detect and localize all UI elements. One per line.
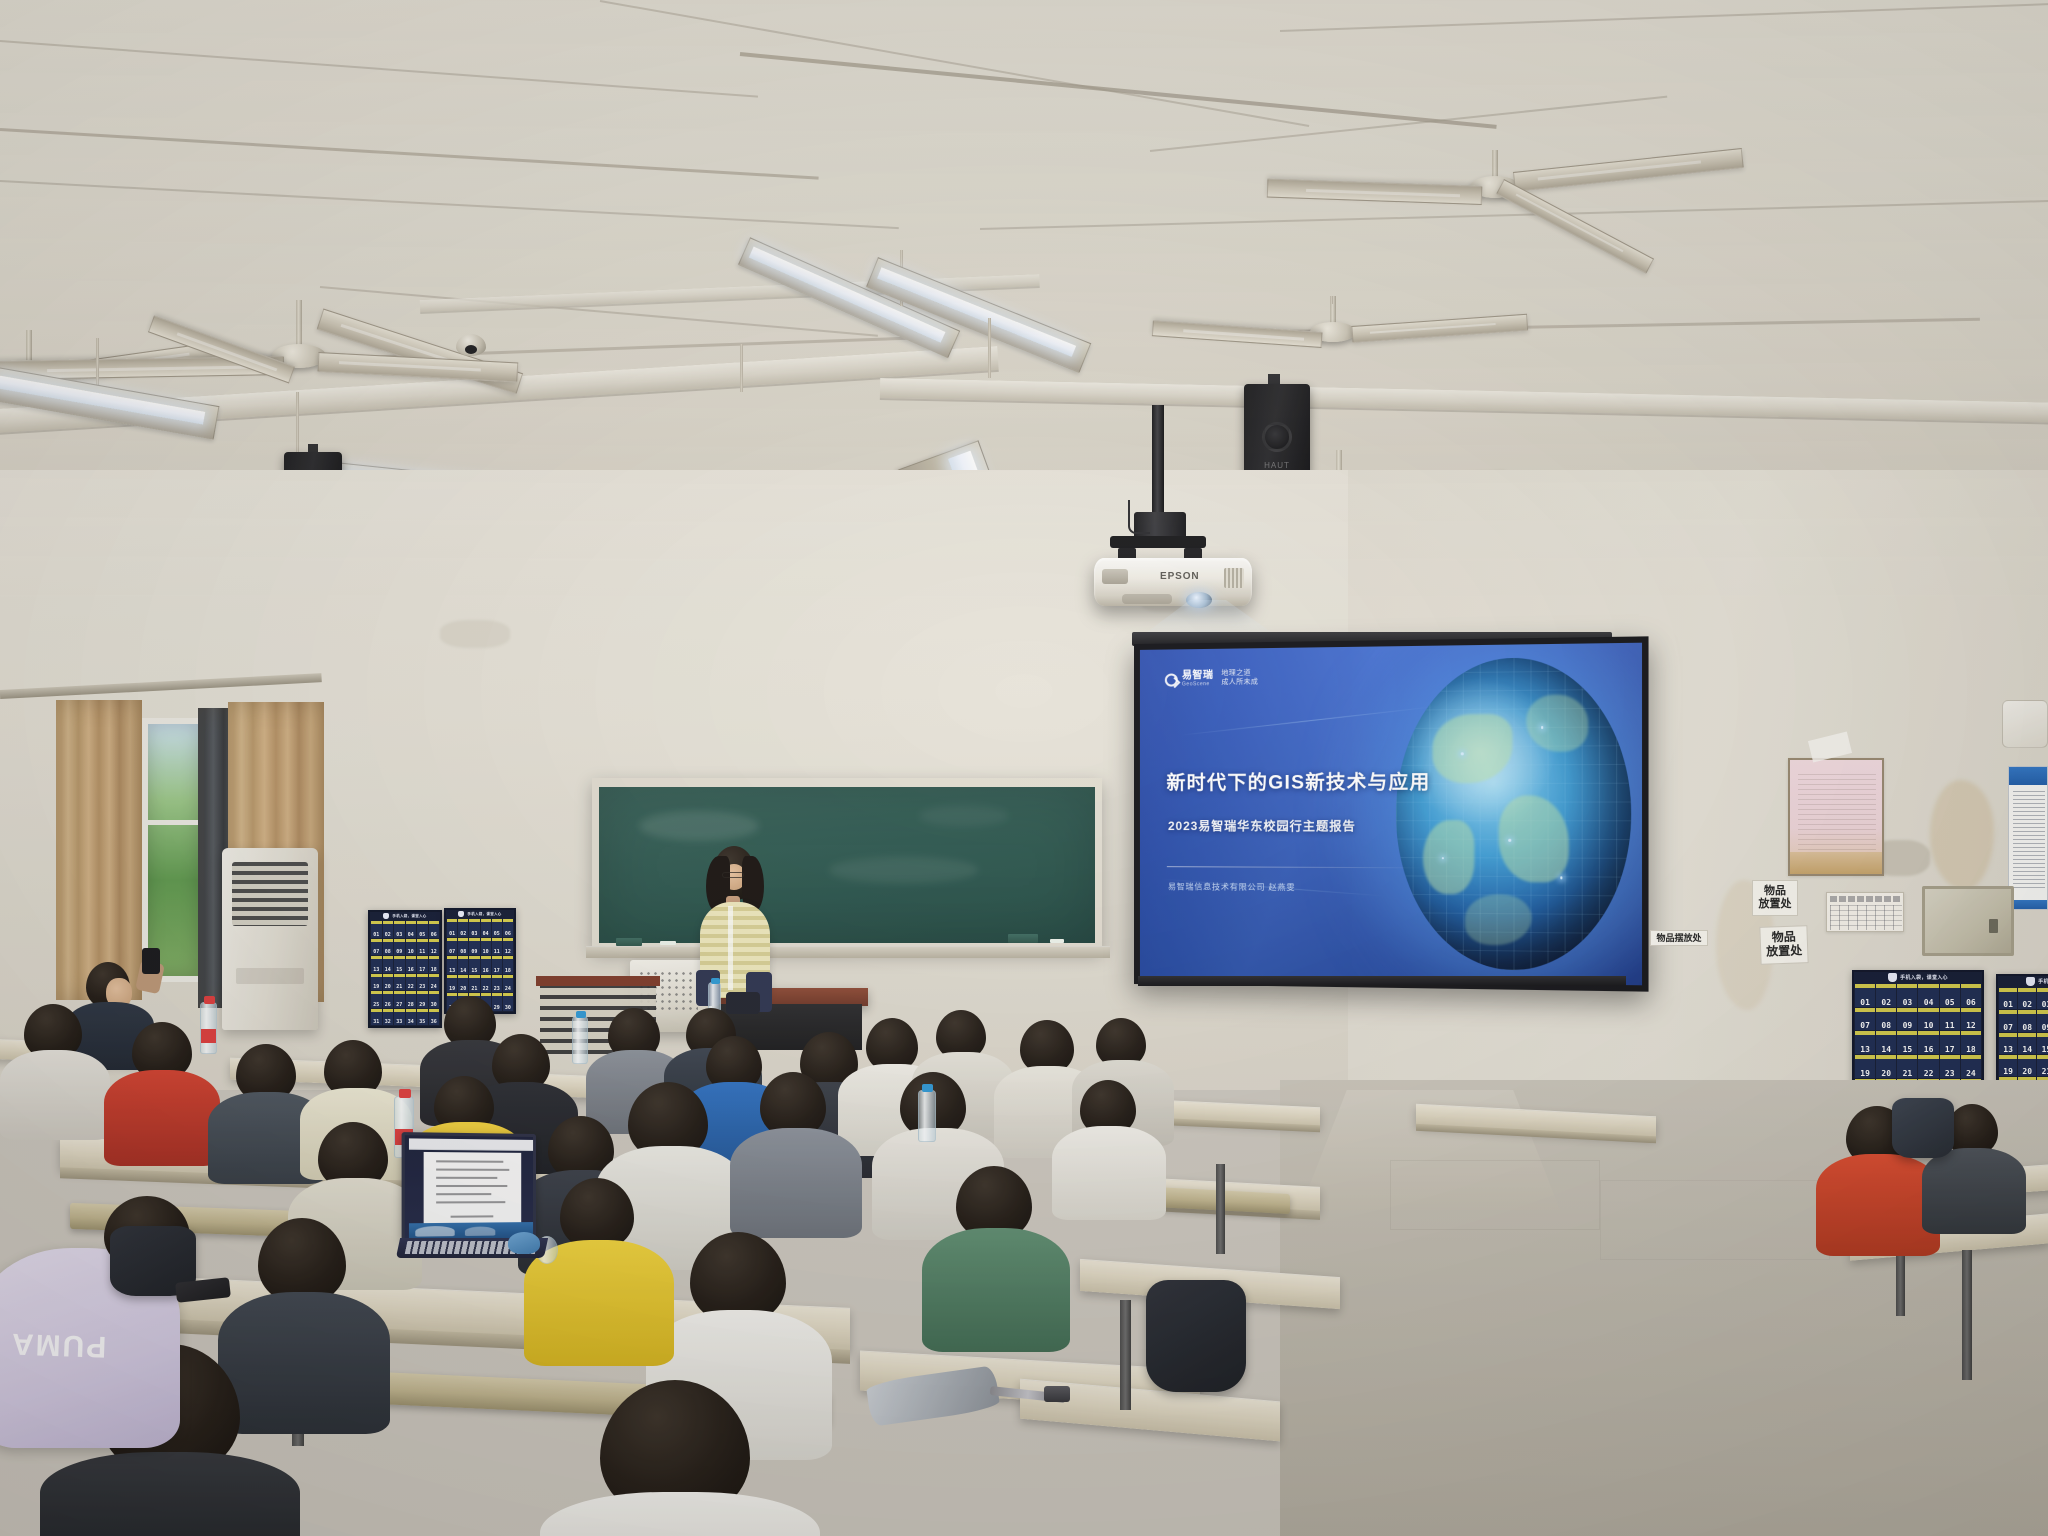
blackboard-eraser: [1008, 934, 1038, 943]
pocket-slot[interactable]: 22: [1918, 1055, 1938, 1078]
presenter-glasses: [722, 872, 744, 878]
pocket-slot[interactable]: 13: [447, 956, 457, 974]
pocket-slot[interactable]: 01: [1855, 984, 1875, 1007]
pocket-slot[interactable]: 08: [458, 938, 468, 956]
slide-presenter-line: 易智瑞信息技术有限公司 赵燕雯: [1168, 881, 1295, 893]
slide-logo-tagline-2: 成人所未成: [1221, 679, 1258, 688]
pocket-slot[interactable]: 04: [481, 919, 491, 937]
pocket-slot[interactable]: 14: [458, 956, 468, 974]
pocket-slot[interactable]: 27: [394, 991, 405, 1008]
pocket-slot[interactable]: 13: [371, 956, 382, 973]
water-bottle: [918, 1090, 936, 1142]
pocket-slot[interactable]: 08: [383, 939, 394, 956]
pocket-slot[interactable]: 16: [1918, 1031, 1938, 1054]
pocket-slot[interactable]: 02: [2018, 988, 2036, 1009]
laptop-screen: [402, 1132, 536, 1240]
pocket-slot[interactable]: 02: [458, 919, 468, 937]
wall-access-door: [1922, 886, 2014, 956]
computer-mouse: [508, 1232, 540, 1254]
pocket-slot[interactable]: 02: [383, 921, 394, 938]
screen-bottom-bar: [1138, 976, 1626, 986]
pocket-slot[interactable]: 10: [406, 939, 417, 956]
person-body: [104, 1070, 220, 1166]
backpack: [1892, 1098, 1954, 1158]
pocket-slot[interactable]: 24: [503, 975, 513, 993]
dome-camera-icon: [456, 334, 486, 356]
pocket-slot[interactable]: 10: [1918, 1008, 1938, 1031]
globe-graphic: [1396, 657, 1632, 972]
pocket-slot[interactable]: 19: [371, 974, 382, 991]
pocket-slot[interactable]: 07: [1999, 1010, 2017, 1031]
pocket-slot[interactable]: 03: [2037, 988, 2048, 1009]
bottle-cap: [922, 1084, 933, 1092]
pocket-slot[interactable]: 08: [2018, 1010, 2036, 1031]
wall-notice-pink: [1788, 758, 1884, 876]
pocket-board-title: 手机入袋，课堂入心: [392, 914, 426, 919]
pocket-slot[interactable]: 34: [406, 1009, 417, 1026]
wall-poster-blue: [2008, 766, 2048, 910]
pocket-slot[interactable]: 33: [394, 1009, 405, 1026]
presentation-slide: 易智瑞 GeoScene 地理之道 成人所未成 新时代下的GIS新技术与应用 2…: [1140, 643, 1642, 986]
pocket-slot[interactable]: 25: [371, 991, 382, 1008]
wall-panel-box: [2002, 700, 2048, 748]
pocket-slot[interactable]: 09: [469, 938, 479, 956]
shield-icon: [458, 911, 464, 917]
pocket-slot[interactable]: 21: [394, 974, 405, 991]
pocket-board-header: 手机入袋，课堂入心: [1854, 972, 1982, 983]
pocket-slot[interactable]: 04: [1918, 984, 1938, 1007]
projector: EPSON: [1094, 558, 1252, 606]
pocket-slot[interactable]: 21: [2037, 1055, 2048, 1076]
window: [142, 718, 204, 982]
light-hanger: [740, 344, 743, 392]
wall-stain: [1930, 780, 1994, 890]
pocket-slot[interactable]: 03: [469, 919, 479, 937]
pocket-slot[interactable]: 15: [394, 956, 405, 973]
pocket-slot[interactable]: 24: [1961, 1055, 1981, 1078]
pocket-slot[interactable]: 19: [1855, 1055, 1875, 1078]
water-bottle: [200, 1002, 217, 1054]
pocket-slot[interactable]: 35: [417, 1009, 428, 1026]
pocket-slot[interactable]: 17: [492, 956, 502, 974]
slide-title: 新时代下的GIS新技术与应用: [1166, 767, 1430, 795]
pocket-slot[interactable]: 19: [1999, 1055, 2017, 1076]
pocket-slot[interactable]: 15: [1897, 1031, 1917, 1054]
pocket-board-header: 手机入袋，课堂入心: [370, 912, 440, 920]
pocket-slot[interactable]: 01: [1999, 988, 2017, 1009]
bottle-cap: [576, 1011, 586, 1018]
pocket-slot[interactable]: 11: [417, 939, 428, 956]
sign-text: 物品 放置处: [1759, 885, 1792, 910]
curtain-left: [56, 700, 142, 1000]
pocket-slot[interactable]: 03: [1897, 984, 1917, 1007]
desk-leg: [1962, 1250, 1972, 1380]
pocket-slot[interactable]: 11: [492, 938, 502, 956]
slide-logo: 易智瑞 GeoScene 地理之道 成人所未成: [1165, 670, 1258, 689]
pocket-slot[interactable]: 13: [1855, 1031, 1875, 1054]
projector-cable: [1128, 500, 1150, 534]
bottle-cap: [399, 1089, 411, 1098]
pocket-slot[interactable]: 24: [429, 974, 440, 991]
pocket-slot[interactable]: 20: [458, 975, 468, 993]
wall-sign-item-place: 物品摆放处: [1650, 930, 1708, 946]
smartphone: [142, 948, 160, 974]
projector-mount-arm: [1110, 536, 1206, 548]
pocket-slot[interactable]: 15: [2037, 1033, 2048, 1054]
phone-pocket-board: 手机入袋，课堂入心 010203040506070809101112131415…: [368, 910, 442, 1028]
window-mullion: [142, 820, 204, 825]
wall-speaker: HAUT: [1244, 384, 1310, 476]
person-body: [540, 1492, 820, 1536]
pocket-slot[interactable]: 06: [1961, 984, 1981, 1007]
shield-icon: [1888, 973, 1897, 982]
blackboard: [592, 778, 1102, 950]
pocket-slot[interactable]: 21: [469, 975, 479, 993]
pocket-slot[interactable]: 16: [406, 956, 417, 973]
pocket-slot[interactable]: 08: [1876, 1008, 1896, 1031]
bottle-cap: [711, 978, 720, 984]
pocket-slot[interactable]: 18: [1961, 1031, 1981, 1054]
shield-icon: [383, 913, 389, 919]
slide-subtitle: 2023易智瑞华东校园行主题报告: [1168, 817, 1356, 834]
pocket-slot[interactable]: 09: [2037, 1010, 2048, 1031]
pocket-slot[interactable]: 03: [394, 921, 405, 938]
light-hanger: [988, 318, 991, 378]
pocket-slot[interactable]: 07: [1855, 1008, 1875, 1031]
pocket-slot[interactable]: 20: [383, 974, 394, 991]
pocket-slot[interactable]: 10: [481, 938, 491, 956]
backpack: [1146, 1280, 1246, 1392]
presenter-cardigan-placket: [728, 906, 733, 990]
pocket-slot[interactable]: 07: [371, 939, 382, 956]
pocket-slot[interactable]: 23: [417, 974, 428, 991]
pocket-slot[interactable]: 29: [492, 993, 502, 1011]
geoscene-logo-icon: [1165, 673, 1178, 686]
pocket-slot[interactable]: 12: [503, 938, 513, 956]
pocket-slot[interactable]: 01: [447, 919, 457, 937]
pocket-slot[interactable]: 30: [503, 993, 513, 1011]
pocket-grid: 0102030405060708091011121314151617181920…: [370, 920, 440, 1026]
bench-leg: [1120, 1300, 1131, 1410]
pocket-slot[interactable]: 12: [1961, 1008, 1981, 1031]
pocket-slot[interactable]: 07: [447, 938, 457, 956]
pocket-board-title: 手机入袋，课堂入心: [467, 912, 501, 917]
pocket-slot[interactable]: 05: [417, 921, 428, 938]
floor-tile: [1390, 1160, 1600, 1230]
chalk: [1050, 939, 1064, 943]
sign-text: 物品 放置处: [1766, 931, 1803, 960]
pocket-slot[interactable]: 14: [2018, 1033, 2036, 1054]
chalk-tray: [586, 946, 1110, 958]
floor-tile: [1600, 1180, 1830, 1260]
wall-sign-item-area: 物品 放置处: [1752, 880, 1798, 916]
wall-schedule-table: [1826, 892, 1904, 932]
pocket-slot[interactable]: 02: [1876, 984, 1896, 1007]
pocket-slot[interactable]: 18: [429, 956, 440, 973]
pocket-slot[interactable]: 11: [1940, 1008, 1960, 1031]
pocket-slot[interactable]: 06: [503, 919, 513, 937]
pocket-slot[interactable]: 09: [394, 939, 405, 956]
pocket-slot[interactable]: 14: [383, 956, 394, 973]
pocket-slot[interactable]: 01: [371, 921, 382, 938]
blackboard-eraser: [616, 938, 642, 946]
pocket-slot[interactable]: 05: [1940, 984, 1960, 1007]
pocket-slot[interactable]: 12: [429, 939, 440, 956]
pocket-slot[interactable]: 19: [447, 975, 457, 993]
pocket-slot[interactable]: 18: [503, 956, 513, 974]
pocket-slot[interactable]: 05: [492, 919, 502, 937]
person-body: [730, 1128, 862, 1238]
pocket-slot[interactable]: 26: [383, 991, 394, 1008]
air-conditioner: [222, 848, 318, 1030]
pocket-slot[interactable]: 30: [429, 991, 440, 1008]
pocket-slot[interactable]: 28: [406, 991, 417, 1008]
person-body: [1052, 1126, 1166, 1220]
pocket-slot[interactable]: 23: [492, 975, 502, 993]
equipment-case: [726, 992, 760, 1014]
pocket-slot[interactable]: 20: [2018, 1055, 2036, 1076]
pocket-slot[interactable]: 32: [383, 1009, 394, 1026]
pocket-slot[interactable]: 23: [1940, 1055, 1960, 1078]
pocket-board-header: 手机入袋，课堂入心: [446, 910, 514, 918]
projector-filter-vent: [1102, 569, 1128, 584]
pocket-board-title: 手机入袋，课堂入心: [2038, 978, 2048, 985]
wall-scuff: [440, 620, 510, 648]
pocket-slot[interactable]: 04: [406, 921, 417, 938]
slide-logo-en: GeoScene: [1182, 682, 1213, 688]
pocket-board-title: 手机入袋，课堂入心: [1900, 974, 1948, 981]
bottle-cap: [204, 996, 215, 1004]
pocket-slot[interactable]: 31: [371, 1009, 382, 1026]
pocket-slot[interactable]: 22: [481, 975, 491, 993]
person-body: [0, 1050, 110, 1140]
person-body: [922, 1228, 1070, 1352]
water-bottle: [572, 1016, 588, 1064]
bench-leg: [1216, 1164, 1225, 1254]
door-latch: [1989, 919, 1998, 933]
projector-vent: [1224, 568, 1244, 588]
classroom-photo-scene: HAUT HAUT 物品放置处 EPSON: [0, 0, 2048, 1536]
chalk: [660, 941, 676, 945]
light-hanger: [1330, 296, 1333, 304]
pocket-slot[interactable]: 14: [1876, 1031, 1896, 1054]
projector-brand-label: EPSON: [1160, 571, 1200, 582]
light-hanger: [296, 392, 299, 456]
pocket-slot[interactable]: 17: [1940, 1031, 1960, 1054]
speaker-brand-label: HAUT: [1244, 461, 1310, 470]
projection-screen: 易智瑞 GeoScene 地理之道 成人所未成 新时代下的GIS新技术与应用 2…: [1134, 636, 1649, 991]
pocket-slot[interactable]: 22: [406, 974, 417, 991]
rack-rail: [536, 976, 660, 986]
pocket-slot[interactable]: 21: [1897, 1055, 1917, 1078]
pocket-slot[interactable]: 13: [1999, 1033, 2017, 1054]
wall-sign-item-area: 物品 放置处: [1759, 925, 1808, 965]
person-body: [40, 1452, 300, 1536]
pocket-slot[interactable]: 29: [417, 991, 428, 1008]
projector-pole: [1152, 405, 1164, 517]
umbrella-grip: [1044, 1386, 1070, 1402]
pocket-slot[interactable]: 06: [429, 921, 440, 938]
shield-icon: [2026, 977, 2035, 986]
pocket-slot[interactable]: 17: [417, 956, 428, 973]
pocket-slot[interactable]: 16: [481, 956, 491, 974]
person-body: [218, 1292, 390, 1434]
pocket-board-header: 手机入袋，课堂入心: [1998, 976, 2048, 987]
pocket-slot[interactable]: 20: [1876, 1055, 1896, 1078]
shirt-brand-text: PUMA: [10, 1328, 107, 1360]
pocket-slot[interactable]: 36: [429, 1009, 440, 1026]
person-body: [1922, 1148, 2026, 1234]
projector-underside: [1122, 594, 1172, 604]
pocket-slot[interactable]: 09: [1897, 1008, 1917, 1031]
pocket-slot[interactable]: 15: [469, 956, 479, 974]
document-toolbar: [409, 1138, 535, 1151]
